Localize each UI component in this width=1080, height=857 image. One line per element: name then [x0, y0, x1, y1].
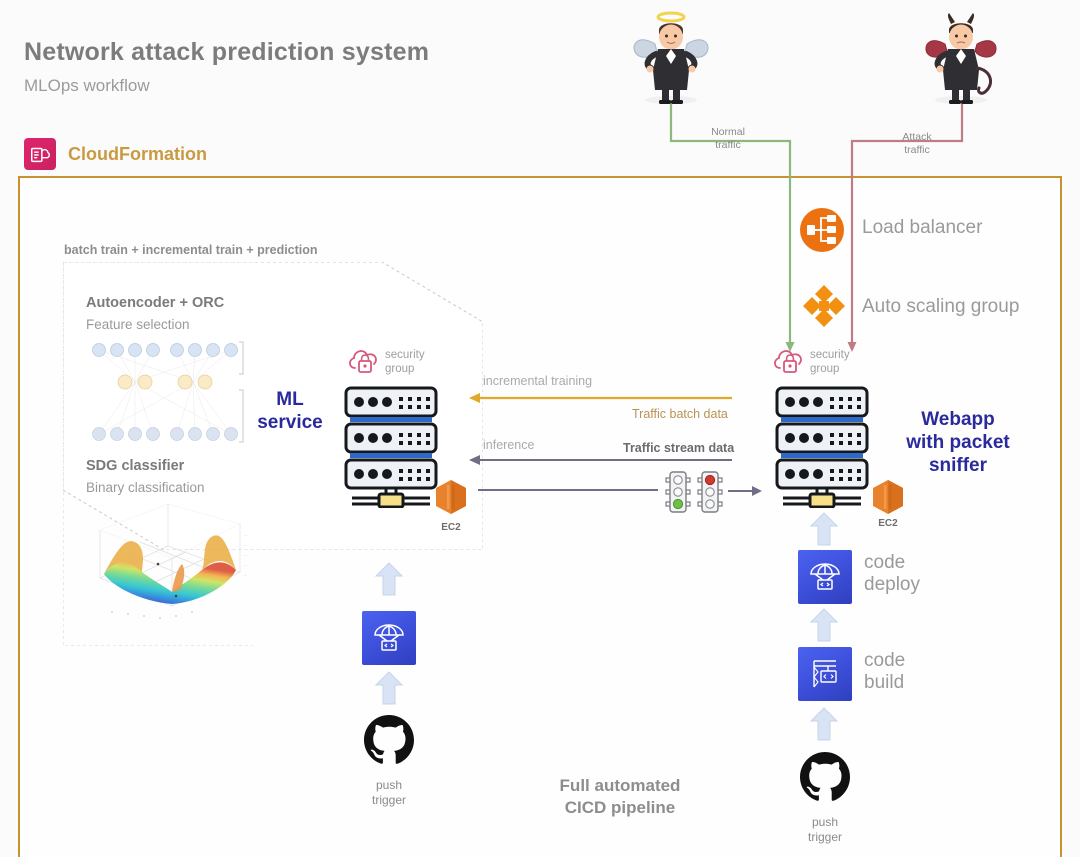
inference-label: inference: [483, 438, 534, 452]
webapp-label: Webapp with packet sniffer: [893, 408, 1023, 478]
auto-scaling-group-label: Auto scaling group: [862, 296, 1019, 318]
load-balancer-icon: [799, 207, 845, 258]
cloudformation-badge: CloudFormation: [24, 138, 207, 170]
traffic-batch-data-label: Traffic batch data: [632, 407, 728, 421]
webapp-label-line1: Webapp: [893, 408, 1023, 431]
code-build-label-line1: code: [864, 650, 905, 672]
svg-text:—: —: [244, 563, 247, 567]
ml-security-group-icon: [347, 346, 381, 381]
webapp-server-rack-icon: [773, 384, 871, 513]
page-subtitle: MLOps workflow: [24, 76, 150, 96]
svg-text:—: —: [244, 553, 247, 557]
normal-traffic-label-line1: Normal: [697, 126, 759, 139]
github-icon-left[interactable]: [362, 713, 416, 772]
autoencoder-network-diagram: [85, 338, 245, 451]
webapp-security-group-icon: [772, 346, 806, 381]
ml-security-group-label: security group: [385, 349, 425, 377]
traffic-light-red: [696, 470, 724, 519]
cloudformation-icon: [24, 138, 56, 170]
load-balancer-label: Load balancer: [862, 217, 982, 239]
attack-traffic-label: Attack traffic: [888, 131, 946, 157]
ml-service-label-line1: ML: [244, 388, 336, 411]
code-build-icon[interactable]: [798, 647, 852, 701]
auto-scaling-group-icon: [800, 282, 848, 335]
push-trigger-right-line2: trigger: [790, 830, 860, 845]
github-push-trigger-label-left: push trigger: [354, 778, 424, 808]
arrow-up-deploy-to-ml: [375, 562, 403, 596]
ml-security-group-label-line1: security: [385, 349, 425, 363]
code-deploy-label-line1: code: [864, 552, 920, 574]
code-deploy-icon[interactable]: [798, 550, 852, 604]
attack-traffic-label-line1: Attack: [888, 131, 946, 144]
normal-traffic-label: Normal traffic: [697, 126, 759, 152]
cicd-caption-line1: Full automated: [490, 775, 750, 797]
github-icon-right[interactable]: [798, 750, 852, 809]
angel-character-icon: [625, 8, 717, 109]
webapp-ec2-icon: [871, 478, 905, 521]
sdg-classifier-subtitle: Binary classification: [86, 480, 205, 495]
incremental-training-label: incremental training: [483, 374, 592, 388]
ml-ec2-label: EC2: [434, 522, 468, 533]
attack-traffic-label-line2: traffic: [888, 144, 946, 157]
code-deploy-label-line2: deploy: [864, 574, 920, 596]
arrow-up-deploy-to-ec2: [810, 512, 838, 546]
arrow-up-build-to-deploy: [810, 608, 838, 642]
github-push-trigger-label-right: push trigger: [790, 815, 860, 845]
autoencoder-subtitle: Feature selection: [86, 317, 190, 332]
arrow-up-github-to-build: [810, 707, 838, 741]
webapp-security-group-label-line2: group: [810, 363, 850, 377]
webapp-security-group-label: security group: [810, 349, 850, 377]
traffic-stream-data-label: Traffic stream data: [623, 441, 734, 455]
webapp-security-group-label-line1: security: [810, 349, 850, 363]
svg-text:—: —: [244, 573, 247, 577]
page-title: Network attack prediction system: [24, 38, 429, 67]
loss-surface-3d-plot: —————: [80, 500, 255, 627]
stream-output-arrow: [728, 482, 764, 502]
cloudformation-label: CloudFormation: [68, 144, 207, 165]
code-build-label: code build: [864, 650, 905, 695]
push-trigger-left-line1: push: [354, 778, 424, 793]
ml-security-group-label-line2: group: [385, 363, 425, 377]
push-trigger-right-line1: push: [790, 815, 860, 830]
code-build-label-line2: build: [864, 672, 905, 694]
cicd-caption-line2: CICD pipeline: [490, 797, 750, 819]
webapp-label-line2: with packet: [893, 431, 1023, 454]
sdg-classifier-title: SDG classifier: [86, 458, 184, 474]
traffic-light-green: [664, 470, 692, 519]
webapp-label-line3: sniffer: [893, 454, 1023, 477]
ml-service-label-line2: service: [244, 411, 336, 434]
devil-character-icon: [915, 8, 1007, 109]
code-deploy-label: code deploy: [864, 552, 920, 597]
webapp-ec2-label: EC2: [871, 518, 905, 529]
code-deploy-icon-left[interactable]: [362, 611, 416, 665]
autoencoder-title: Autoencoder + ORC: [86, 295, 224, 311]
ml-panel-caption: batch train + incremental train + predic…: [64, 243, 318, 258]
normal-traffic-label-line2: traffic: [697, 139, 759, 152]
arrow-up-github-to-deploy-left: [375, 671, 403, 705]
push-trigger-left-line2: trigger: [354, 793, 424, 808]
diagram-canvas: Network attack prediction system MLOps w…: [0, 0, 1080, 857]
svg-text:—: —: [244, 543, 247, 547]
ml-service-label: ML service: [244, 388, 336, 434]
ml-server-rack-icon: [342, 384, 440, 513]
svg-text:—: —: [244, 533, 247, 537]
cicd-pipeline-caption: Full automated CICD pipeline: [490, 775, 750, 819]
